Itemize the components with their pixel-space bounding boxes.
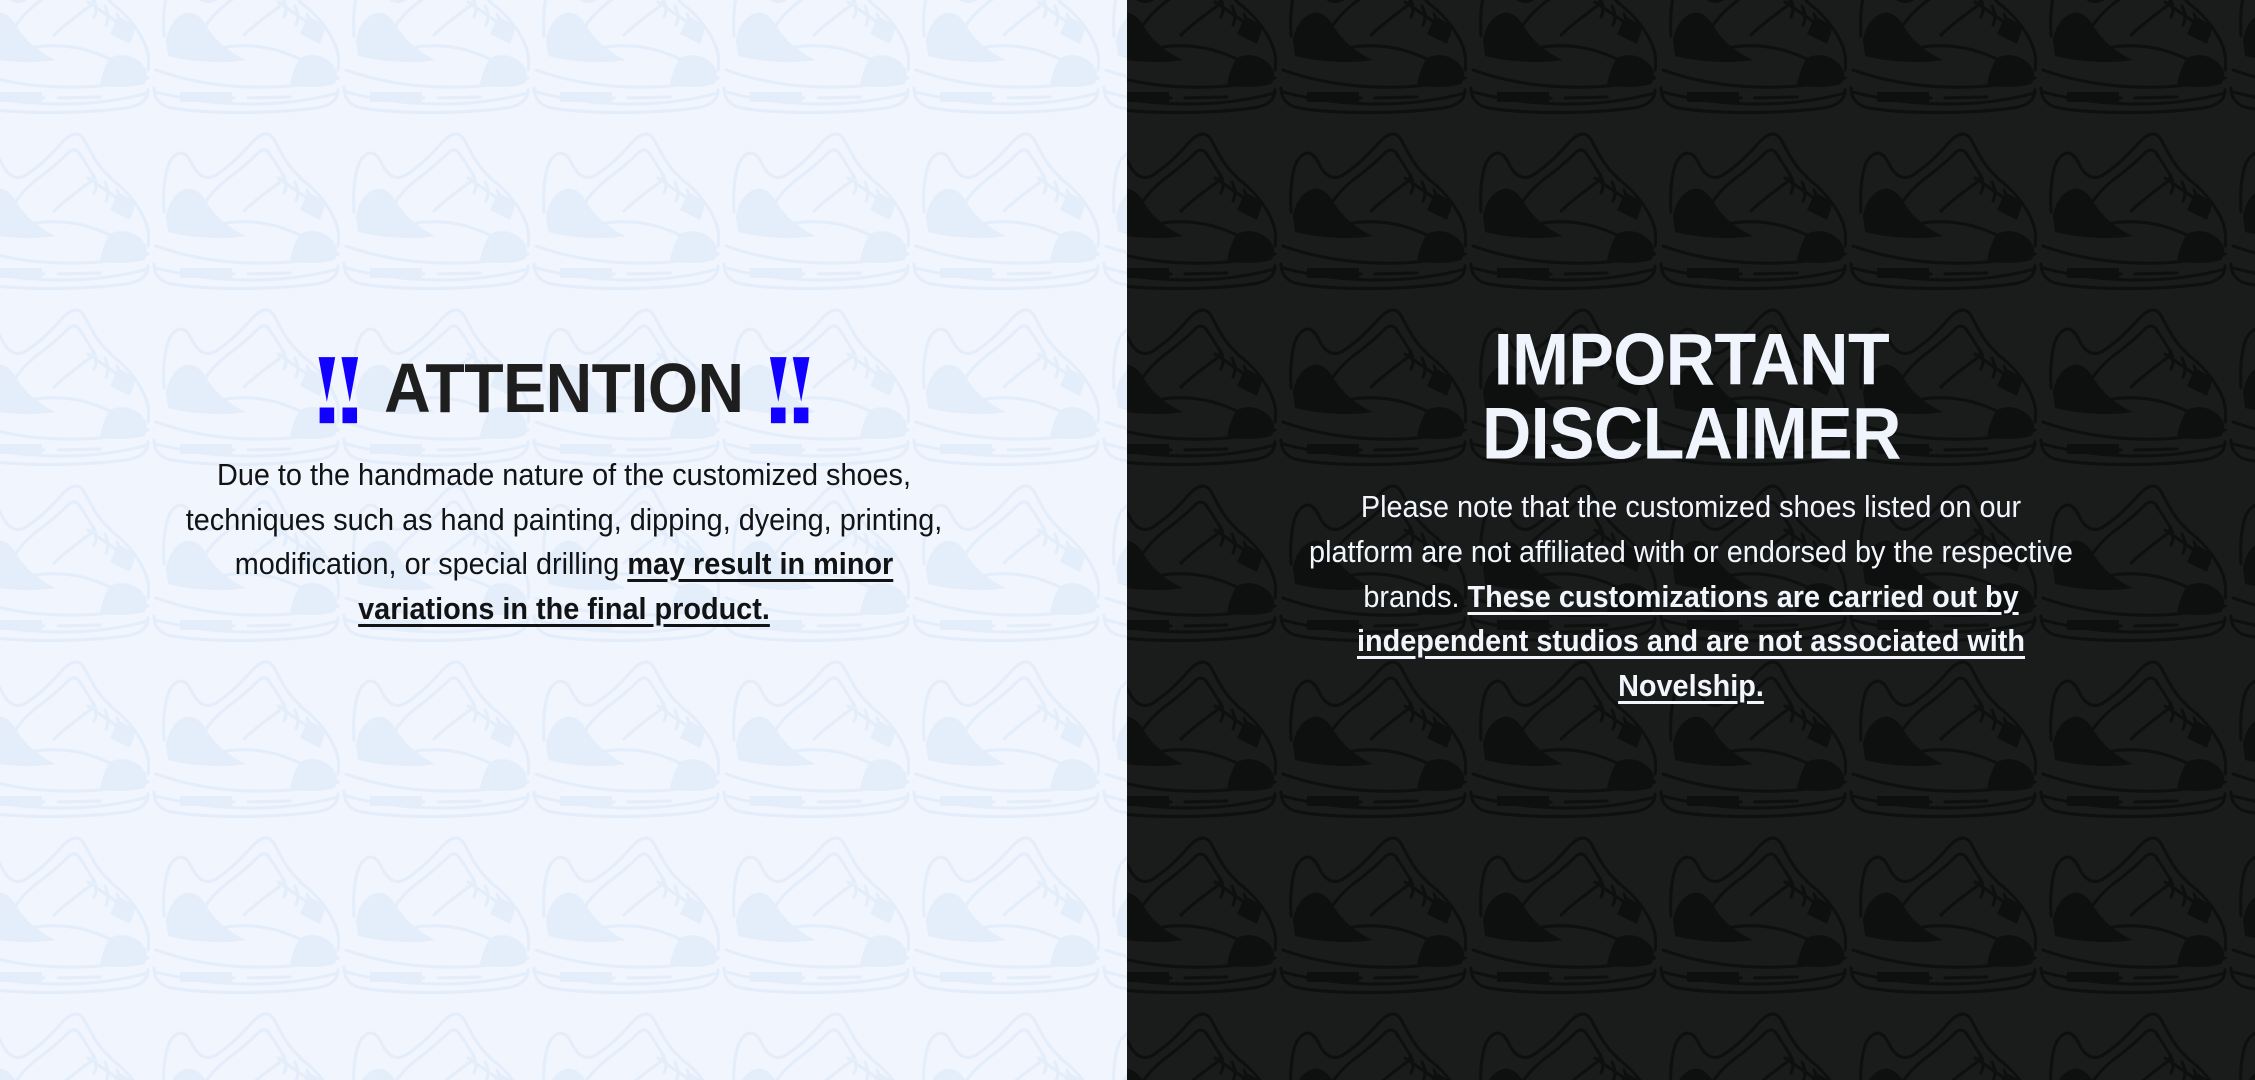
disclaimer-heading: IMPORTANT DISCLAIMER bbox=[1482, 323, 1901, 472]
attention-heading-text: ATTENTION bbox=[384, 357, 743, 422]
attention-content: ATTENTION Due to the handmade nature of … bbox=[0, 0, 1127, 632]
disclaimer-body: Please note that the customized shoes li… bbox=[1305, 485, 2077, 708]
attention-body: Due to the handmade nature of the custom… bbox=[182, 453, 945, 632]
disclaimer-heading-line1: IMPORTANT bbox=[1482, 323, 1901, 398]
disclaimer-heading-line2: DISCLAIMER bbox=[1482, 398, 1901, 473]
double-exclamation-icon bbox=[318, 357, 356, 423]
disclaimer-content: IMPORTANT DISCLAIMER Please note that th… bbox=[1127, 0, 2255, 709]
disclaimer-banner: ATTENTION Due to the handmade nature of … bbox=[0, 0, 2255, 1080]
attention-panel: ATTENTION Due to the handmade nature of … bbox=[0, 0, 1127, 1080]
attention-heading: ATTENTION bbox=[318, 356, 809, 422]
double-exclamation-icon bbox=[770, 357, 808, 423]
disclaimer-panel: IMPORTANT DISCLAIMER Please note that th… bbox=[1127, 0, 2255, 1080]
